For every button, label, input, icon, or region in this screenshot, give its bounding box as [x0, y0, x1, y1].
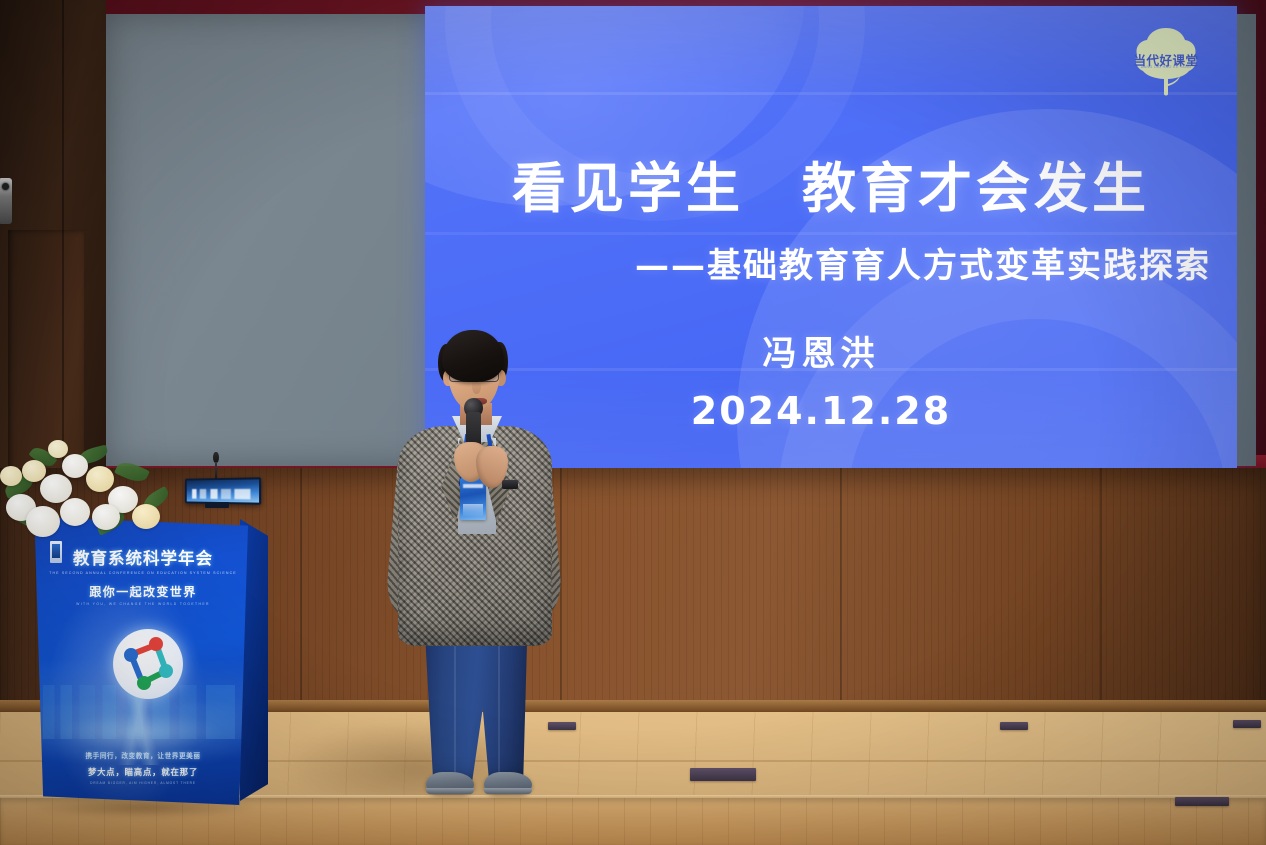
podium-front-panel: 教育系统科学年会 THE SECOND ANNUAL CONFERENCE ON…	[30, 517, 248, 805]
presenter-hair	[442, 330, 504, 382]
presenter-badge	[460, 478, 486, 520]
podium-footer-line-3: DREAM BIGGER, AIM HIGHER, ALMOST THERE	[44, 781, 242, 785]
wristwatch-icon	[502, 480, 518, 489]
floor-outlet-plate	[1000, 722, 1028, 730]
monitor-stand	[205, 502, 229, 508]
lower-wall-seam-4	[1100, 468, 1102, 718]
slide-subtitle: ——基础教育育人方式变革实践探索	[425, 238, 1211, 287]
stage-front-vent	[1175, 797, 1229, 806]
screen-right-blank-area	[1237, 14, 1256, 466]
floor-outlet-plate	[1233, 720, 1261, 728]
logo-caption-en: DANG DAI HAO KE TANG	[1131, 65, 1201, 69]
network-nodes-emblem-icon	[113, 629, 183, 699]
tree-leaf-logo-icon: 当代好课堂 DANG DAI HAO KE TANG	[1131, 24, 1201, 98]
wall-mounted-device-icon	[0, 178, 12, 224]
floor-outlet-plate	[690, 768, 756, 781]
presenter-figure	[392, 330, 557, 800]
lower-wall-seam-1	[300, 468, 302, 718]
slide-title: 看见学生 教育才会发生	[425, 144, 1237, 223]
podium-subheading-block: 跟你一起改变世界 WITH YOU, WE CHANGE THE WORLD T…	[44, 583, 242, 606]
lower-wall-seam-3	[840, 468, 842, 718]
podium-subheading-cn: 跟你一起改变世界	[44, 583, 242, 600]
podium-footer-block: 携手同行，改变教育，让世界更美丽 梦大点，瞄高点，就在那了 DREAM BIGG…	[44, 750, 242, 785]
podium-heading-en: THE SECOND ANNUAL CONFERENCE ON EDUCATIO…	[44, 571, 242, 575]
podium-footer-line-1: 携手同行，改变教育，让世界更美丽	[44, 750, 242, 760]
presenter-nose	[472, 380, 481, 394]
lower-wall-seam-2	[560, 468, 562, 718]
podium-subheading-en: WITH YOU, WE CHANGE THE WORLD TOGETHER	[44, 602, 242, 606]
flower-arrangement	[0, 440, 178, 550]
conference-photo-scene: 当代好课堂 DANG DAI HAO KE TANG 看见学生 教育才会发生 —…	[0, 0, 1266, 845]
podium-footer-line-2: 梦大点，瞄高点，就在那了	[44, 766, 242, 778]
confidence-monitor	[185, 477, 261, 505]
presenter-trousers	[420, 624, 532, 786]
